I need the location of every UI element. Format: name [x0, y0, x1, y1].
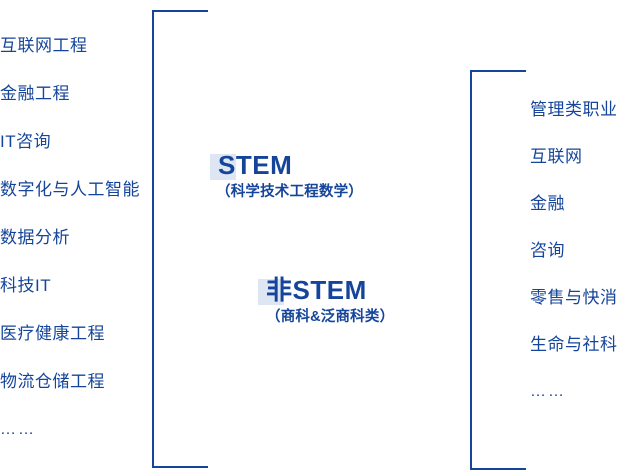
non-stem-label-group: 非STEM （商科&泛商科类） [262, 275, 394, 327]
list-item: 互联网 [530, 147, 638, 167]
non-stem-title: 非STEM [262, 275, 371, 305]
diagram-canvas: 互联网工程 金融工程 IT咨询 数字化与人工智能 数据分析 科技IT 医疗健康工… [0, 0, 638, 475]
list-item: 咨询 [530, 241, 638, 261]
list-item: 金融 [530, 194, 638, 214]
stem-label-group: STEM （科学技术工程数学） [214, 150, 363, 202]
list-item: 管理类职业 [530, 100, 638, 120]
list-item: 生命与社科 [530, 335, 638, 355]
list-item: 零售与快消 [530, 288, 638, 308]
stem-subtitle: （科学技术工程数学） [216, 182, 363, 202]
right-category-list: 管理类职业 互联网 金融 咨询 零售与快消 生命与社科 …… [530, 100, 638, 429]
stem-title: STEM [214, 150, 296, 180]
list-item-ellipsis: …… [530, 382, 638, 402]
right-bracket [470, 70, 526, 470]
non-stem-subtitle: （商科&泛商科类） [266, 307, 394, 327]
left-bracket [152, 10, 208, 468]
